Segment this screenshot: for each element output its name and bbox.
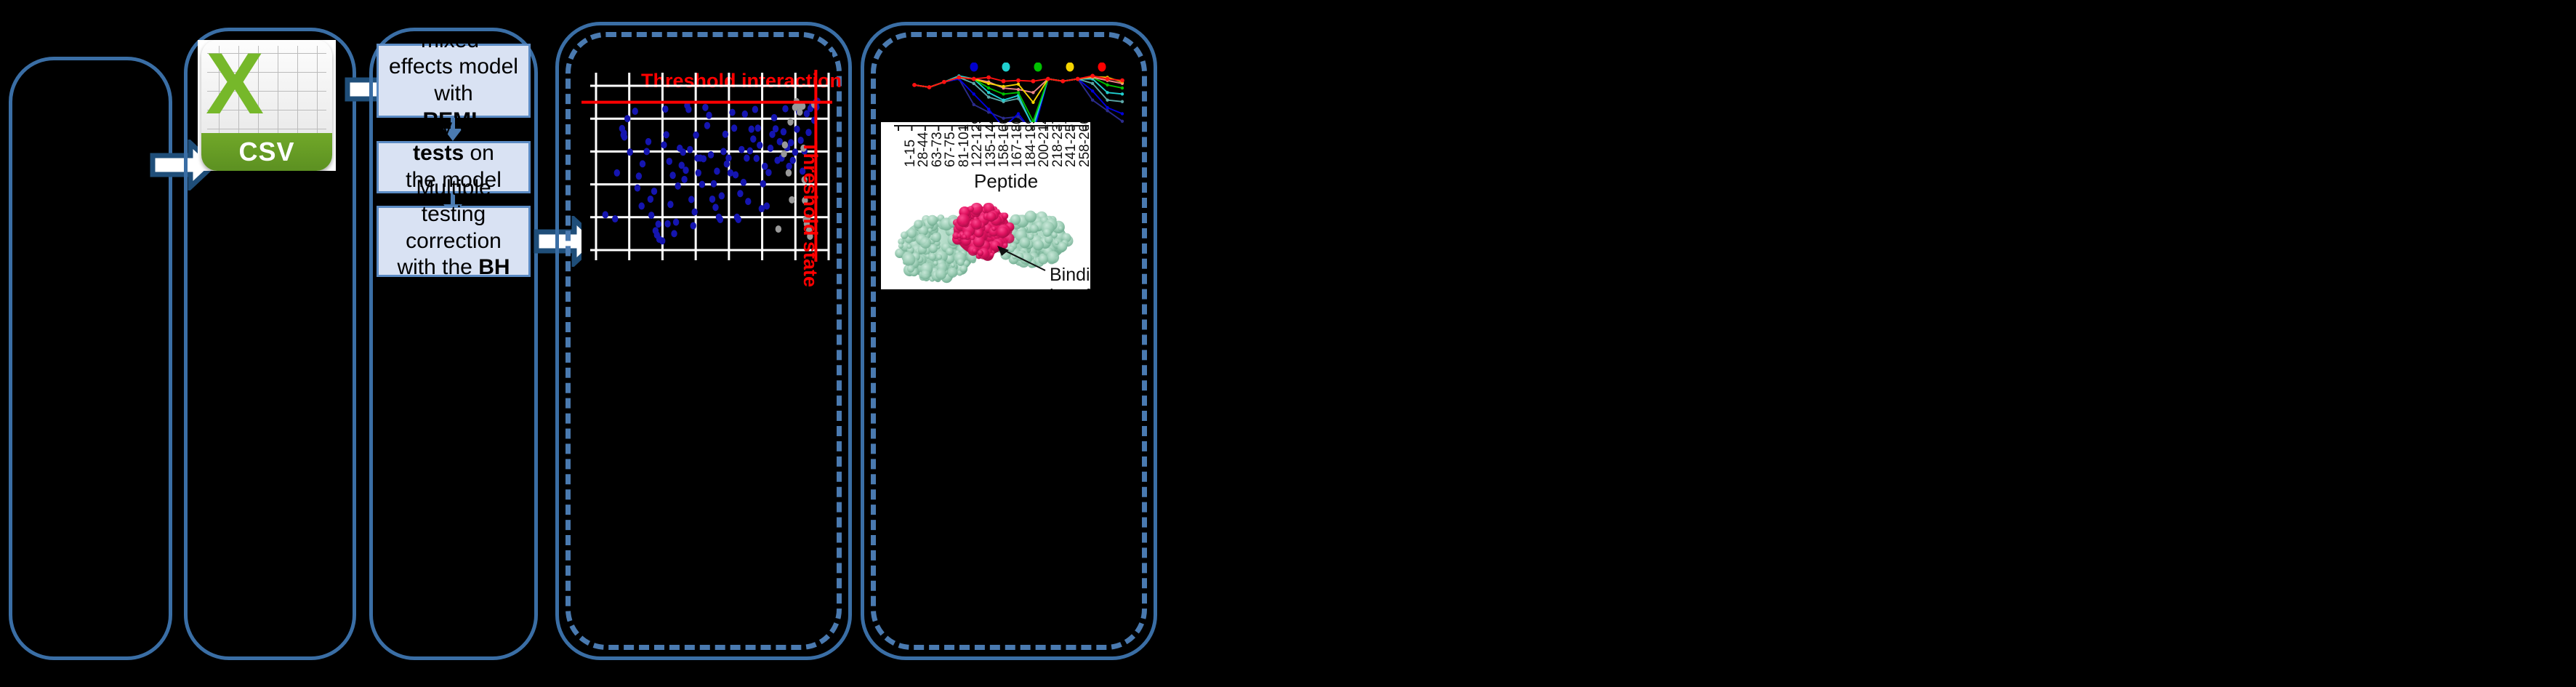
scatter-canvas: [581, 52, 832, 263]
csv-label-band: CSV: [201, 133, 332, 171]
threshold-state-label: Threshold state: [799, 141, 821, 287]
csv-file-icon-card: X CSV: [198, 40, 336, 171]
protein-structure-card: 0.0 1-1528-4463-7367-7581-101122-129135-…: [881, 122, 1090, 289]
x-tick-258-266: 258-266: [1077, 122, 1090, 167]
excel-x-glyph: X: [206, 40, 264, 127]
csv-label: CSV: [238, 137, 294, 167]
workflow-diagram: X CSV Fit a linear mixed-effects model w…: [0, 0, 2576, 687]
step-correction-box[interactable]: Multiple testingcorrectionwith the BH pr…: [377, 206, 531, 277]
step-model-box[interactable]: Fit a linear mixed-effects model withREM…: [377, 44, 531, 118]
x-axis-title: Peptide: [974, 170, 1038, 193]
binding-interface-line1: Binding: [1050, 265, 1090, 286]
step-correction-text: Multiple testingcorrectionwith the BH pr…: [385, 175, 523, 308]
scatter-plot: Threshold interaction Threshold state: [581, 52, 832, 263]
binding-interface-line2: interface: [1050, 286, 1090, 289]
csv-icon: X CSV: [201, 40, 332, 171]
binding-interface-annotation: Binding interface: [1050, 265, 1090, 289]
input-panel: [9, 57, 172, 660]
